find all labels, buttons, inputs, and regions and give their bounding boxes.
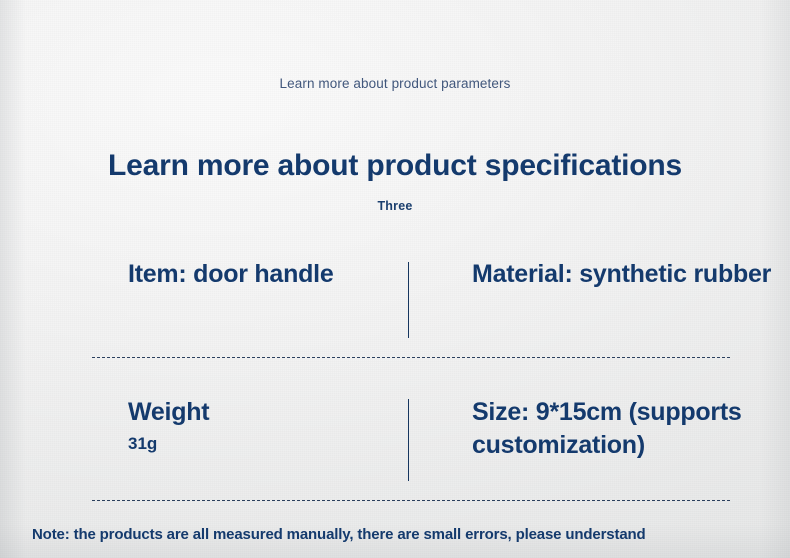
row-divider-dashed	[92, 500, 730, 501]
measurement-disclaimer-note: Note: the products are all measured manu…	[32, 525, 772, 545]
page-title: Learn more about product specifications	[0, 148, 790, 184]
section-number-label: Three	[0, 199, 790, 213]
spec-label: Material: synthetic rubber	[472, 258, 772, 291]
column-divider	[408, 399, 409, 481]
row-divider-dashed	[92, 357, 730, 358]
spec-cell-item: Item: door handle	[128, 258, 396, 354]
spec-cell-size: Size: 9*15cm (supports customization)	[472, 396, 772, 492]
product-specifications-panel: Learn more about product parameters Lear…	[0, 0, 790, 558]
spec-row: Weight 31g Size: 9*15cm (supports custom…	[0, 396, 790, 492]
spec-value: 31g	[128, 432, 396, 455]
eyebrow-text: Learn more about product parameters	[0, 76, 790, 91]
spec-label: Size: 9*15cm (supports customization)	[472, 396, 772, 462]
spec-row: Item: door handle Material: synthetic ru…	[0, 258, 790, 354]
spec-label: Weight	[128, 396, 396, 429]
spec-label: Item: door handle	[128, 258, 396, 291]
column-divider	[408, 262, 409, 338]
spec-cell-weight: Weight 31g	[128, 396, 396, 492]
spec-cell-material: Material: synthetic rubber	[472, 258, 772, 354]
